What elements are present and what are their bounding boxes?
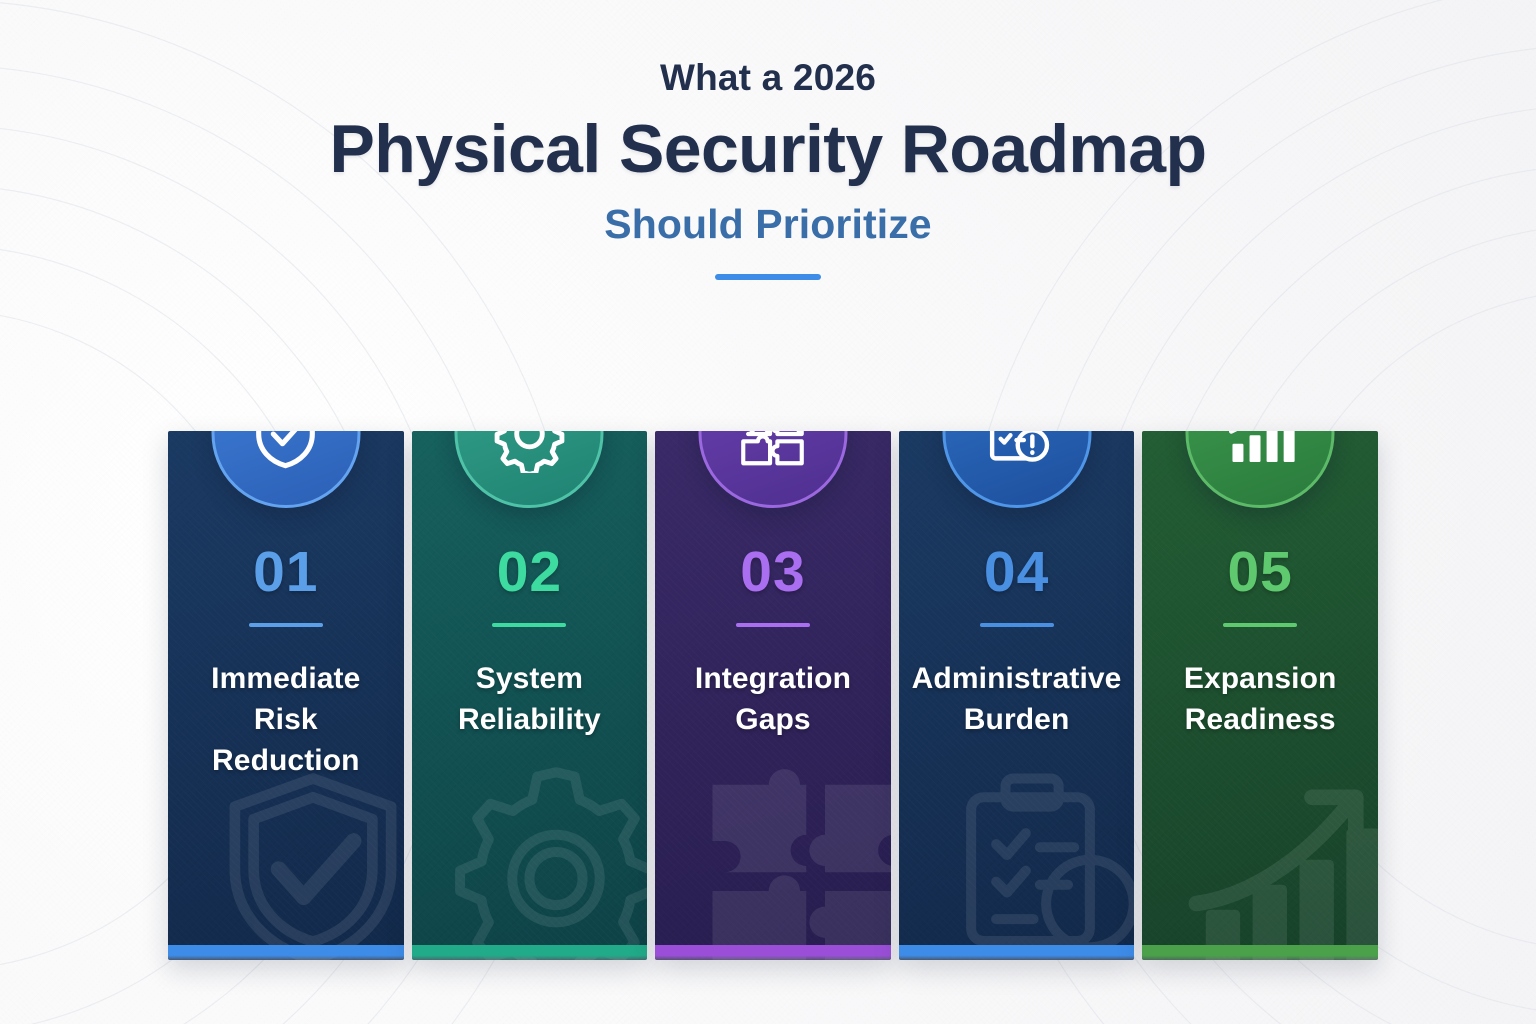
clipboard-watermark-icon xyxy=(938,766,1134,960)
cards-row: 01ImmediateRisk Reduction 02SystemReliab… xyxy=(168,431,1378,960)
card-label: ImmediateRisk Reduction xyxy=(178,658,394,781)
card-number-divider xyxy=(492,623,566,627)
card-number-divider xyxy=(1223,623,1297,627)
growth-chart-icon xyxy=(1221,431,1299,473)
header: What a 2026 Physical Security Roadmap Sh… xyxy=(0,0,1536,280)
card-label: AdministrativeBurden xyxy=(909,658,1125,740)
card-number: 04 xyxy=(909,544,1125,601)
page-title: Physical Security Roadmap xyxy=(0,113,1536,186)
shield-check-icon xyxy=(247,431,325,473)
card-label: IntegrationGaps xyxy=(665,658,881,740)
card-number-divider xyxy=(980,623,1054,627)
growth-chart-watermark-icon xyxy=(1182,766,1378,960)
card-label-line1: Immediate xyxy=(178,658,394,699)
puzzle-pieces-icon xyxy=(734,431,812,473)
subtitle-text: Should Prioritize xyxy=(0,202,1536,247)
gear-icon xyxy=(490,431,568,473)
card-label-line2: Readiness xyxy=(1152,699,1368,740)
card-label-line2: Reliability xyxy=(422,699,638,740)
card-number: 02 xyxy=(422,544,638,601)
card-accent-bar xyxy=(412,945,648,960)
roadmap-card-01[interactable]: 01ImmediateRisk Reduction xyxy=(168,431,404,960)
gear-watermark-icon xyxy=(451,766,647,960)
shield-check-watermark-icon xyxy=(208,766,404,960)
card-accent-bar xyxy=(168,945,404,960)
roadmap-card-03[interactable]: 03IntegrationGaps xyxy=(655,431,891,960)
puzzle-watermark-icon xyxy=(695,766,891,960)
card-accent-bar xyxy=(899,945,1135,960)
roadmap-card-04[interactable]: 04AdministrativeBurden xyxy=(899,431,1135,960)
roadmap-card-02[interactable]: 02SystemReliability xyxy=(412,431,648,960)
card-number: 03 xyxy=(665,544,881,601)
card-label-line2: Risk Reduction xyxy=(178,699,394,781)
card-label: ExpansionReadiness xyxy=(1152,658,1368,740)
card-number: 01 xyxy=(178,544,394,601)
card-number-divider xyxy=(249,623,323,627)
card-label-line2: Burden xyxy=(909,699,1125,740)
roadmap-card-05[interactable]: 05ExpansionReadiness xyxy=(1142,431,1378,960)
eyebrow-text: What a 2026 xyxy=(0,58,1536,99)
card-label-line2: Gaps xyxy=(665,699,881,740)
infographic-canvas: What a 2026 Physical Security Roadmap Sh… xyxy=(0,0,1536,1024)
clipboard-alert-icon xyxy=(978,431,1056,473)
card-accent-bar xyxy=(1142,945,1378,960)
title-divider xyxy=(715,274,821,280)
card-label: SystemReliability xyxy=(422,658,638,740)
card-label-line1: Integration xyxy=(665,658,881,699)
card-accent-bar xyxy=(655,945,891,960)
card-number: 05 xyxy=(1152,544,1368,601)
card-number-divider xyxy=(736,623,810,627)
card-label-line1: Administrative xyxy=(909,658,1125,699)
card-label-line1: Expansion xyxy=(1152,658,1368,699)
card-label-line1: System xyxy=(422,658,638,699)
